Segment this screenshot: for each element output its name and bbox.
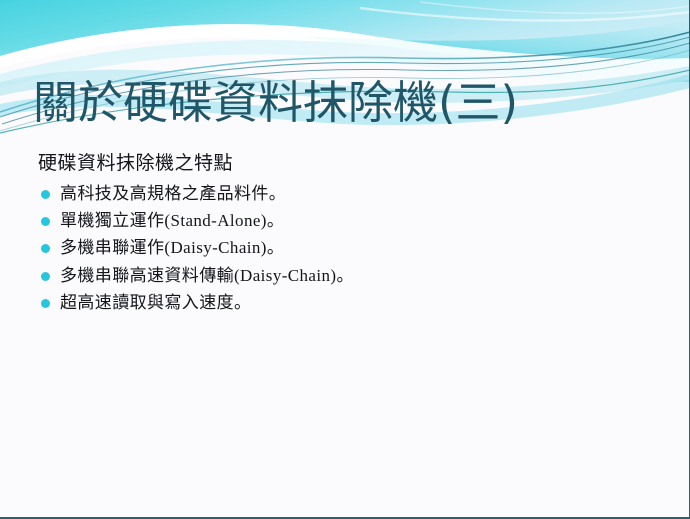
list-item-label: 多機串聯高速資料傳輸(Daisy-Chain)。 <box>60 266 354 285</box>
slide-title: 關於硬碟資料抹除機(三) <box>33 76 653 130</box>
list-item: 單機獨立運作(Stand-Alone)。 <box>36 207 656 234</box>
presentation-slide: 關於硬碟資料抹除機(三) 硬碟資料抹除機之特點 高科技及高規格之產品料件。 單機… <box>0 0 690 519</box>
list-item-label: 高科技及高規格之產品料件。 <box>60 184 286 203</box>
list-item-label: 單機獨立運作(Stand-Alone)。 <box>60 211 284 230</box>
body-heading: 硬碟資料抹除機之特點 <box>38 150 656 177</box>
bullet-circle-icon <box>41 190 50 199</box>
bullet-circle-icon <box>41 272 50 281</box>
bullet-circle-icon <box>41 217 50 226</box>
slide-body: 硬碟資料抹除機之特點 高科技及高規格之產品料件。 單機獨立運作(Stand-Al… <box>36 150 656 316</box>
list-item: 多機串聯運作(Daisy-Chain)。 <box>36 234 656 261</box>
bullet-circle-icon <box>41 299 50 308</box>
list-item: 高科技及高規格之產品料件。 <box>36 180 656 207</box>
feature-bullet-list: 高科技及高規格之產品料件。 單機獨立運作(Stand-Alone)。 多機串聯運… <box>36 180 656 316</box>
list-item-label: 超高速讀取與寫入速度。 <box>60 293 251 312</box>
list-item-label: 多機串聯運作(Daisy-Chain)。 <box>60 238 284 257</box>
bullet-circle-icon <box>41 244 50 253</box>
list-item: 超高速讀取與寫入速度。 <box>36 289 656 316</box>
list-item: 多機串聯高速資料傳輸(Daisy-Chain)。 <box>36 262 656 289</box>
